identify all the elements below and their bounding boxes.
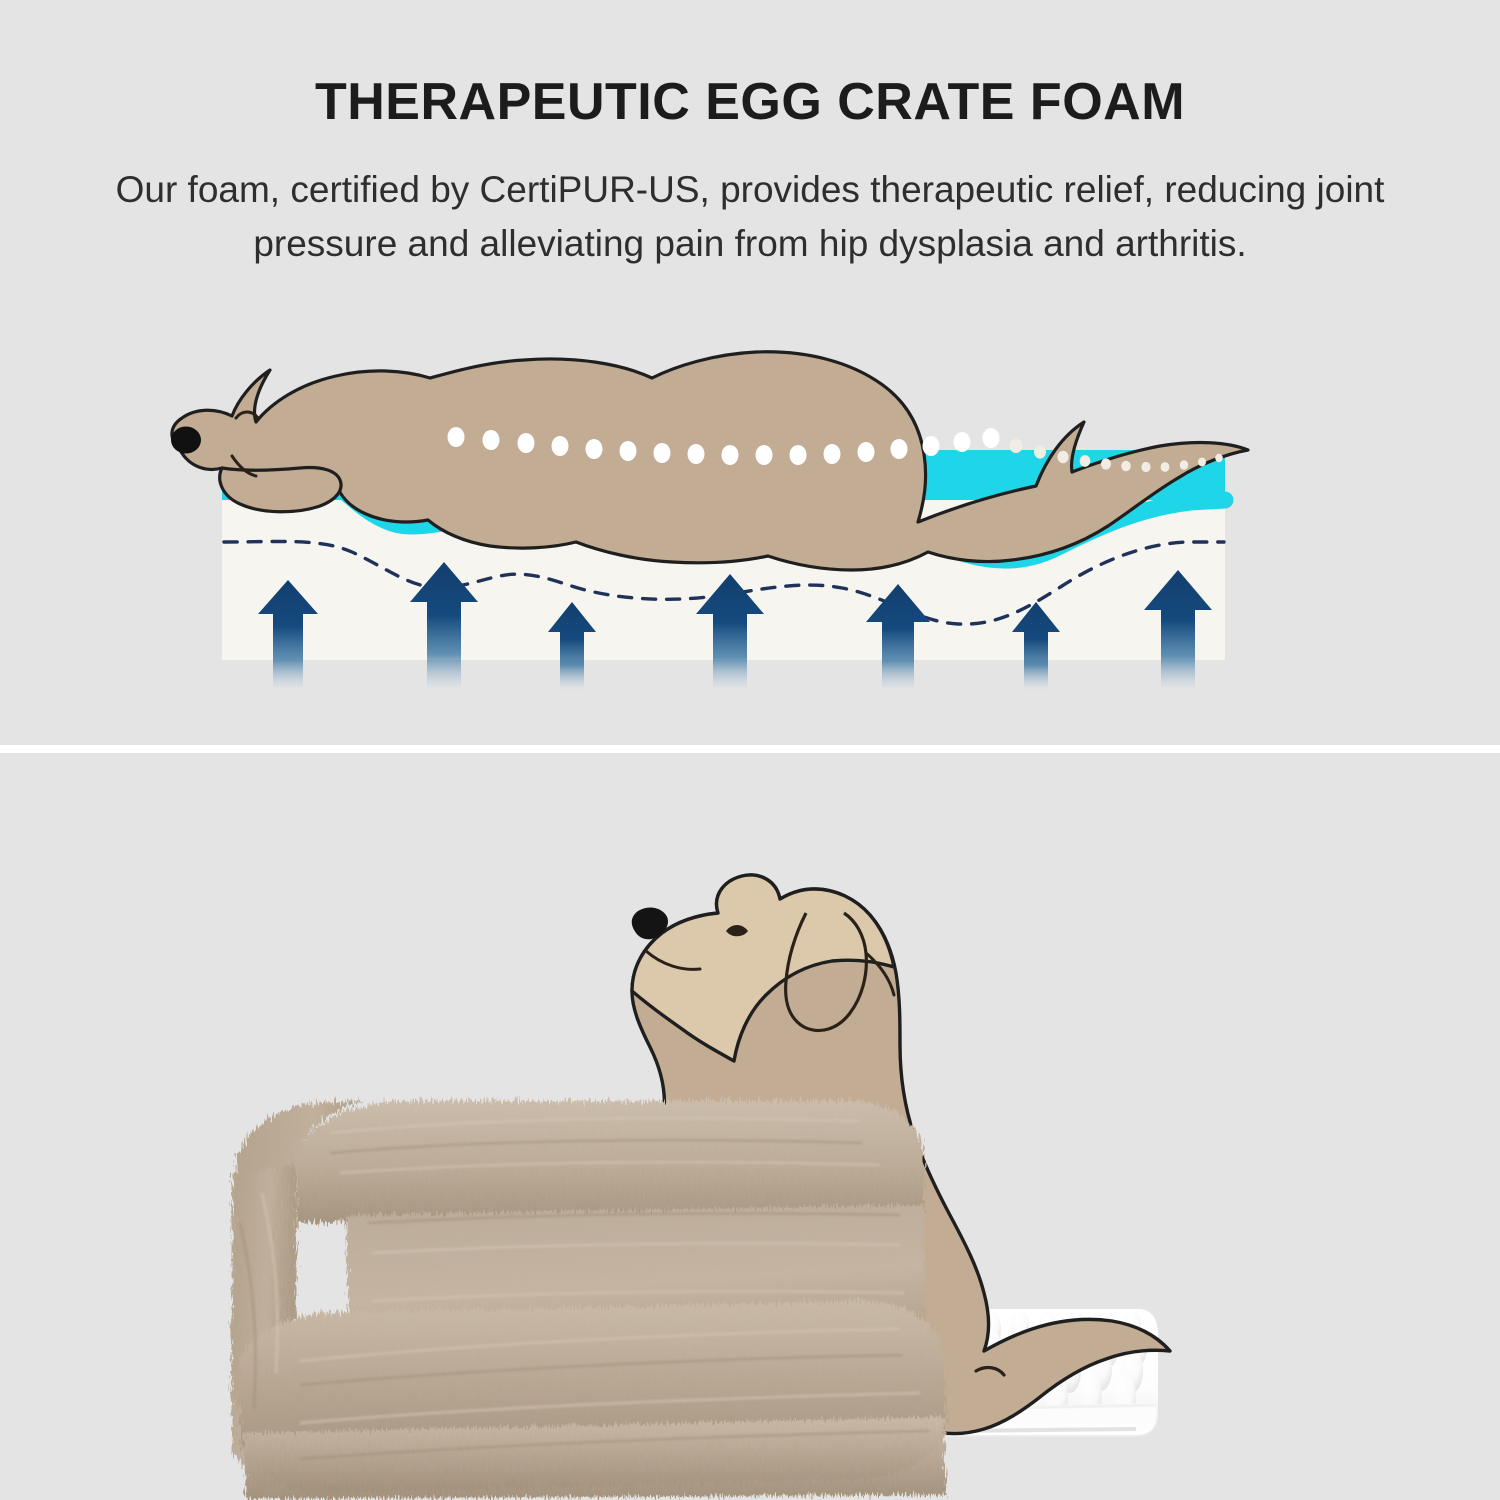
dog-bed-ventilation-illustration (0, 753, 1500, 1500)
panel-divider (0, 745, 1500, 753)
fluffy-dog-bed (232, 1101, 946, 1499)
panel-therapeutic-foam: THERAPEUTIC EGG CRATE FOAM Our foam, cer… (0, 0, 1500, 745)
dog-on-foam-illustration (0, 330, 1500, 730)
subtitle-therapeutic-foam: Our foam, certified by CertiPUR-US, prov… (70, 163, 1430, 271)
panel-improved-ventilation: IMPROVED VENTILATION CONTAINS CERTIFIED … (0, 753, 1500, 1500)
dog-nose (171, 427, 201, 454)
page-title-therapeutic-foam: THERAPEUTIC EGG CRATE FOAM (0, 72, 1500, 132)
infographic-page: THERAPEUTIC EGG CRATE FOAM Our foam, cer… (0, 0, 1500, 1500)
